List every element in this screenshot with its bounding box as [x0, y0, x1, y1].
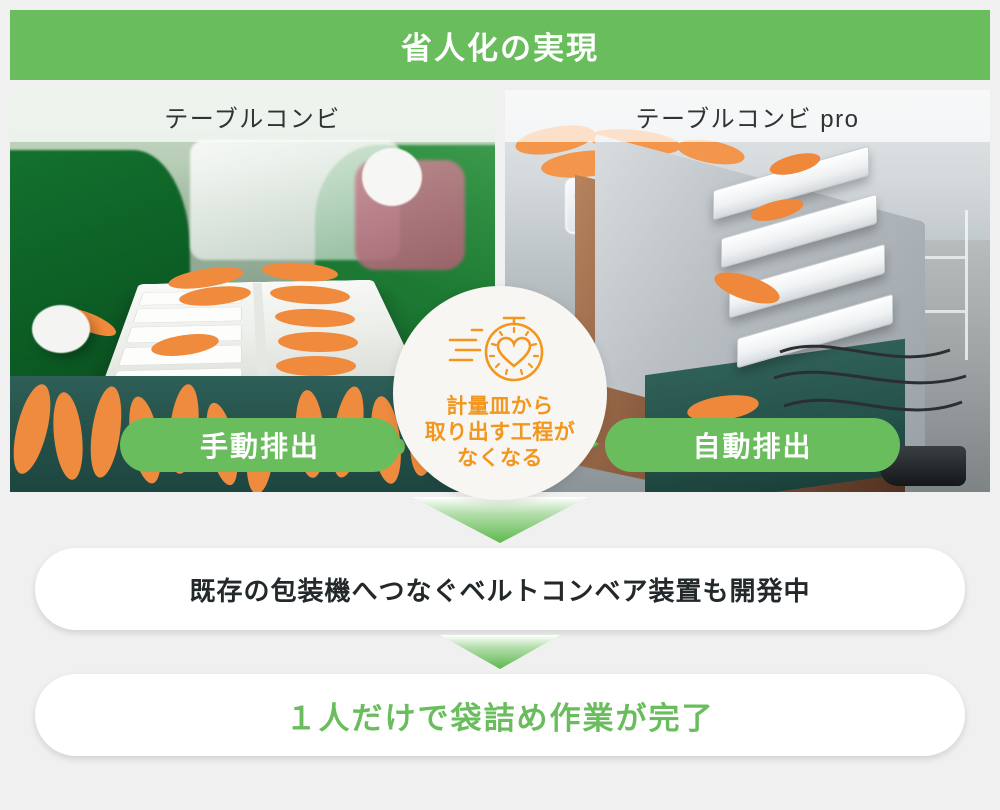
badge-line-3: なくなる: [425, 446, 576, 472]
pill-label-auto: 自動排出: [692, 425, 812, 465]
badge-line-1: 計量皿から: [425, 394, 576, 420]
infographic-page: 省人化の実現: [0, 0, 1000, 810]
flow-arrow-2-wrap: [10, 630, 990, 674]
benefit-badge: 計量皿から 取り出す工程が なくなる: [393, 286, 607, 500]
result-box-conveyor: 既存の包装機へつなぐベルトコンベア装置も開発中: [35, 548, 965, 630]
gloved-hand-lower: [32, 305, 90, 353]
panel-title-right: テーブルコンビ pro: [636, 99, 860, 134]
connector-dot: [608, 439, 618, 454]
chevron-down-icon: [440, 635, 560, 669]
stopwatch-heart-icon: [446, 314, 554, 388]
badge-text: 計量皿から 取り出す工程が なくなる: [425, 394, 576, 472]
header-banner: 省人化の実現: [10, 10, 990, 80]
panel-label-bar: テーブルコンビ: [10, 90, 495, 142]
page-title: 省人化の実現: [401, 23, 599, 68]
connector-dot: [395, 439, 405, 454]
panel-label-bar: テーブルコンビ pro: [505, 90, 990, 142]
result-text-2: １人だけで袋詰め作業が完了: [286, 693, 715, 738]
pill-label-manual: 手動排出: [200, 425, 320, 465]
badge-auto-discharge: 自動排出: [605, 418, 900, 472]
flow-arrow-1-wrap: [10, 492, 990, 548]
result-text-1: 既存の包装機へつなぐベルトコンベア装置も開発中: [189, 571, 810, 608]
result-box-final: １人だけで袋詰め作業が完了: [35, 674, 965, 756]
panel-title-left: テーブルコンビ: [164, 99, 341, 134]
badge-manual-discharge: 手動排出: [120, 418, 400, 472]
chevron-down-icon: [412, 497, 588, 543]
comparison-strip: テーブルコンビ 手動排出: [10, 90, 990, 492]
badge-line-2: 取り出す工程が: [425, 420, 576, 446]
